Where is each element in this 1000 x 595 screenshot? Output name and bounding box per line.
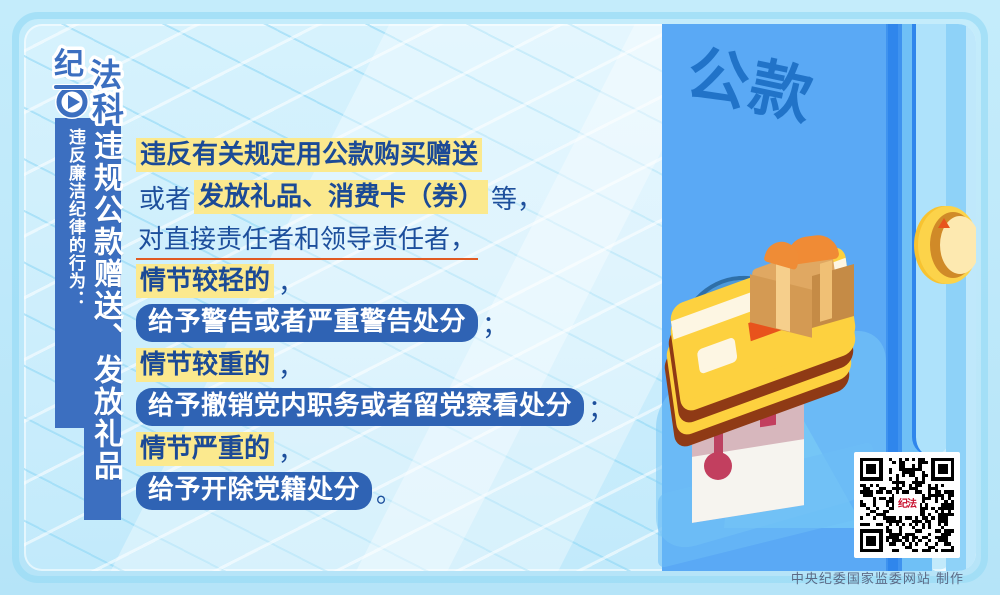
text-segment-punct: ， xyxy=(274,431,304,468)
text-segment-plain: 或者 xyxy=(136,179,194,216)
content-line: 或者发放礼品、消费卡（券）等， xyxy=(136,176,636,218)
qr-canvas: 纪法 xyxy=(860,458,954,552)
text-segment-pill: 给予开除党籍处分 xyxy=(136,472,372,509)
vertical-title: 违规公款赠送、发放礼品 xyxy=(84,130,120,510)
door-strip-d xyxy=(966,24,976,571)
content-line: 给予警告或者严重警告处分； xyxy=(136,302,636,344)
logo-artwork: 纪 纪 法 法 科 科 xyxy=(52,44,148,126)
content-line: 对直接责任者和领导责任者， xyxy=(136,218,636,260)
content-text-block: 违反有关规定用公款购买赠送或者发放礼品、消费卡（券）等，对直接责任者和领导责任者… xyxy=(136,134,636,512)
text-segment-punct: ， xyxy=(274,263,304,300)
text-segment-highlight: 情节较重的 xyxy=(136,348,274,383)
text-segment-plain: 等， xyxy=(488,179,546,216)
content-line: 给予开除党籍处分。 xyxy=(136,470,636,512)
svg-text:纪: 纪 xyxy=(54,47,84,82)
content-line: 违反有关规定用公款购买赠送 xyxy=(136,134,636,176)
footer-credit: 中央纪委国家监委网站 制作 xyxy=(791,568,964,587)
text-segment-punct: 。 xyxy=(372,473,402,510)
qr-code[interactable]: 纪法 xyxy=(854,452,960,558)
text-segment-pill: 给予撤销党内职务或者留党察看处分 xyxy=(136,388,584,425)
text-segment-punct: ； xyxy=(478,305,508,342)
brand-logo: 纪 纪 法 法 科 科 xyxy=(52,44,148,126)
text-segment-highlight: 情节较轻的 xyxy=(136,264,274,299)
content-line: 情节严重的， xyxy=(136,428,636,470)
content-line: 给予撤销党内职务或者留党察看处分； xyxy=(136,386,636,428)
text-segment-highlight: 情节严重的 xyxy=(136,432,274,467)
bag-dot xyxy=(704,452,732,480)
text-segment-punct: ； xyxy=(584,389,614,426)
vertical-subtitle: 违反廉洁纪律的行为： xyxy=(57,128,83,424)
text-segment-underline: 对直接责任者和领导责任者， xyxy=(136,219,478,260)
svg-text:科: 科 xyxy=(92,90,124,126)
safe-dial-icon xyxy=(918,206,976,284)
text-segment-punct: ， xyxy=(274,347,304,384)
gift-ribbon-right xyxy=(820,260,832,321)
content-line: 情节较重的， xyxy=(136,344,636,386)
text-segment-pill: 给予警告或者严重警告处分 xyxy=(136,304,478,341)
qr-center-badge: 纪法 xyxy=(894,494,920,516)
text-segment-highlight: 违反有关规定用公款购买赠送 xyxy=(136,138,482,173)
content-line: 情节较轻的， xyxy=(136,260,636,302)
text-segment-highlight: 发放礼品、消费卡（券） xyxy=(194,180,488,215)
poster-canvas: 公款 xyxy=(0,0,1000,595)
